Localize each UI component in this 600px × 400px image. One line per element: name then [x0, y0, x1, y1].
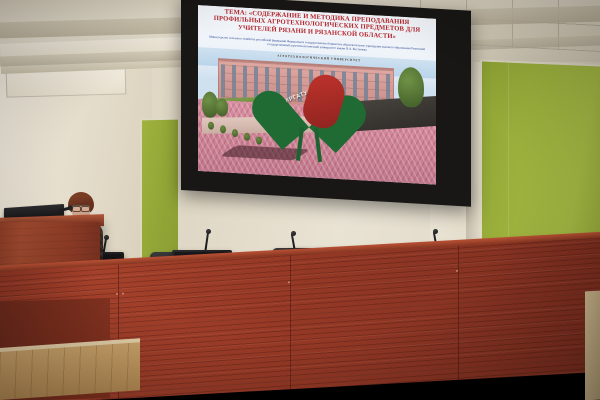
lecture-hall-photo: ТЕМА: «СОДЕРЖАНИЕ И МЕТОДИКА ПРЕПОДАВАНИ…	[0, 0, 600, 400]
shrub-icon	[232, 129, 238, 137]
microphone-head	[291, 231, 296, 236]
microphone-head	[104, 235, 109, 240]
floor	[0, 342, 140, 400]
shrub-icon	[208, 122, 214, 130]
tree-icon	[398, 67, 424, 108]
desk-end-cap	[585, 291, 600, 400]
desk-panel-seam	[458, 246, 459, 380]
shrub-icon	[244, 133, 250, 141]
heart-sculpture: #РГАТУ	[272, 63, 346, 163]
tree-icon	[216, 98, 228, 117]
slide-photograph: АГРОТЕХНОЛОГИЧЕСКИЙ УНИВЕРСИТЕТ	[198, 47, 436, 185]
desk-panel-seam	[290, 255, 291, 389]
microphone-head	[206, 229, 211, 234]
shrub-icon	[220, 125, 226, 133]
presentation-slide: ТЕМА: «СОДЕРЖАНИЕ И МЕТОДИКА ПРЕПОДАВАНИ…	[198, 5, 436, 185]
presenter-fringe	[69, 195, 93, 205]
shrub-icon	[256, 136, 262, 144]
projection-screen: ТЕМА: «СОДЕРЖАНИЕ И МЕТОДИКА ПРЕПОДАВАНИ…	[181, 0, 471, 207]
sculpture-legs	[292, 126, 326, 162]
glasses-icon	[72, 205, 90, 209]
green-panel-left	[142, 120, 178, 269]
projection-screen-surface: ТЕМА: «СОДЕРЖАНИЕ И МЕТОДИКА ПРЕПОДАВАНИ…	[198, 5, 436, 185]
microphone-head	[433, 229, 438, 234]
